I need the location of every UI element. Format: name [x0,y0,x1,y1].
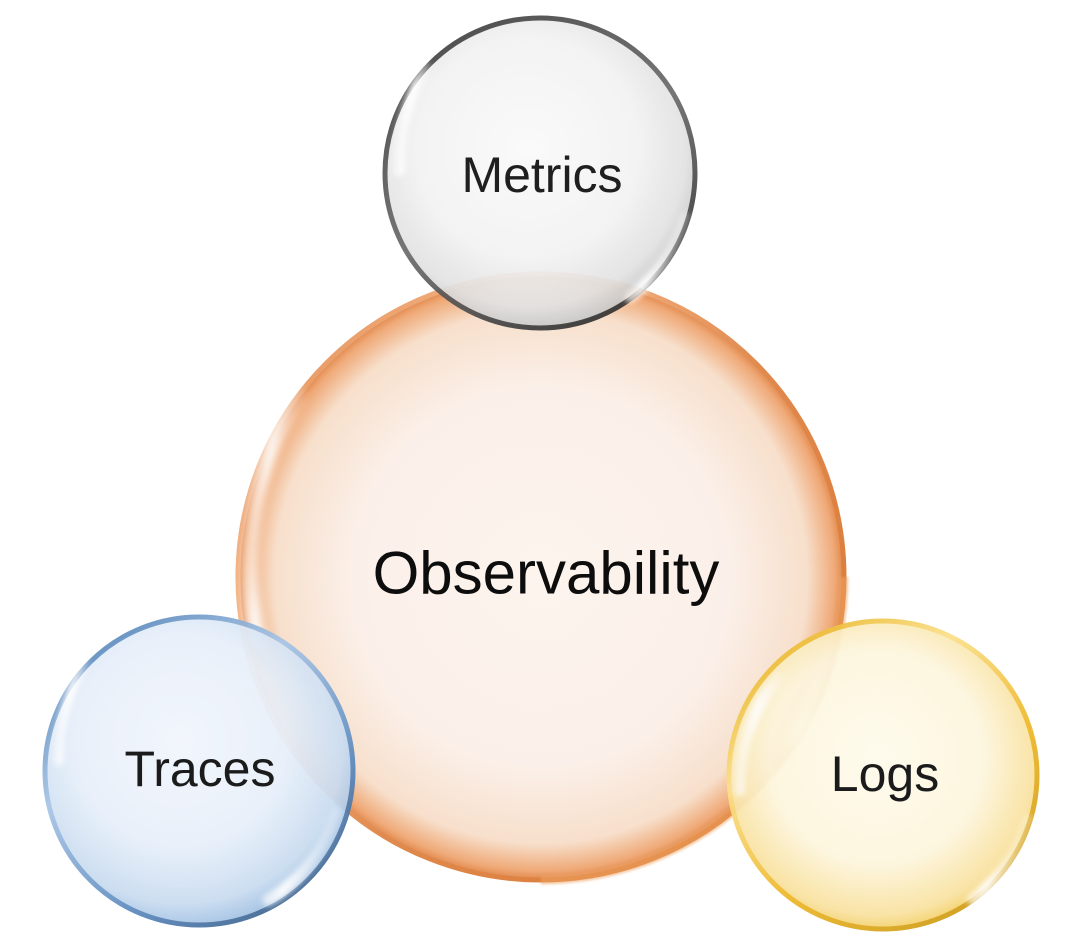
logs-label: Logs [831,746,939,802]
node-traces[interactable]: Traces [45,617,353,925]
diagram-canvas: Observability Traces Logs Metrics [0,0,1082,942]
observability-label: Observability [373,540,720,607]
metrics-label: Metrics [461,147,622,203]
node-logs[interactable]: Logs [729,621,1037,929]
observability-venn-diagram: Observability Traces Logs Metrics [0,0,1082,942]
traces-label: Traces [125,741,276,797]
node-metrics[interactable]: Metrics [385,18,695,328]
